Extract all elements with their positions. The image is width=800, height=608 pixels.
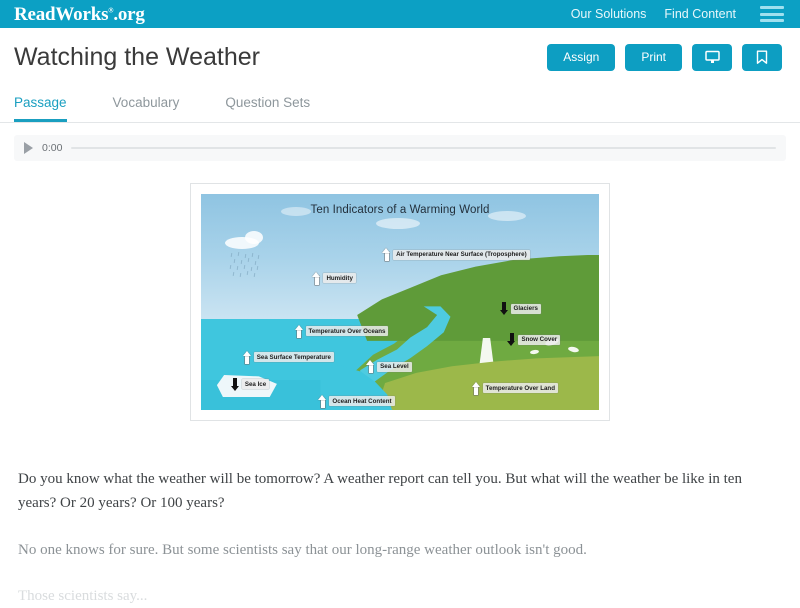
- site-logo[interactable]: ReadWorks®.org: [14, 5, 145, 24]
- arrow-up-icon: [472, 382, 481, 395]
- arrow-up-icon: [318, 395, 327, 408]
- tab-question-sets[interactable]: Question Sets: [225, 95, 310, 122]
- present-button[interactable]: [692, 44, 732, 71]
- print-button[interactable]: Print: [625, 44, 682, 71]
- monitor-icon: [705, 50, 720, 64]
- audio-time: 0:00: [42, 142, 62, 154]
- audio-player-region: 0:00: [0, 123, 800, 161]
- play-icon[interactable]: [24, 142, 33, 154]
- label-text: Sea Ice: [242, 379, 269, 389]
- cloud-icon-4: [281, 207, 311, 216]
- audio-progress-track[interactable]: [71, 147, 776, 149]
- label-text: Glaciers: [511, 304, 541, 314]
- label-text: Snow Cover: [518, 335, 560, 345]
- audio-player: 0:00: [14, 135, 786, 161]
- arrow-down-icon: [500, 302, 509, 315]
- logo-main-text: ReadWorks: [14, 4, 108, 25]
- bookmark-button[interactable]: [742, 44, 782, 71]
- label-text: Temperature Over Oceans: [306, 326, 389, 336]
- content-tabs: Passage Vocabulary Question Sets: [0, 86, 800, 123]
- hamburger-menu-icon[interactable]: [760, 6, 784, 22]
- arrow-up-icon: [295, 325, 304, 338]
- illustration-title: Ten Indicators of a Warming World: [201, 204, 599, 216]
- arrow-up-icon: [382, 248, 391, 261]
- passage-paragraph-2: No one knows for sure. But some scientis…: [18, 538, 780, 562]
- hamburger-bar-2: [760, 13, 784, 16]
- label-text: Temperature Over Land: [483, 383, 558, 393]
- label-text: Humidity: [323, 273, 355, 283]
- passage-figure: Ten Indicators of a Warming World: [190, 183, 610, 421]
- nav-find-content[interactable]: Find Content: [664, 7, 736, 21]
- logo-suffix-text: .org: [113, 4, 144, 25]
- assign-button[interactable]: Assign: [547, 44, 615, 71]
- label-humidity: Humidity: [312, 272, 355, 285]
- arrow-up-icon: [243, 351, 252, 364]
- label-air-temperature: Air Temperature Near Surface (Tropospher…: [382, 248, 530, 261]
- label-glaciers: Glaciers: [500, 302, 541, 315]
- cloud-icon-3: [488, 211, 526, 221]
- arrow-up-icon: [366, 360, 375, 373]
- warming-world-illustration: Ten Indicators of a Warming World: [201, 194, 599, 410]
- arrow-down-icon: [231, 378, 240, 391]
- label-text: Sea Surface Temperature: [254, 352, 334, 362]
- label-text: Air Temperature Near Surface (Tropospher…: [393, 250, 530, 260]
- nav-our-solutions[interactable]: Our Solutions: [571, 7, 647, 21]
- site-header: ReadWorks®.org Our Solutions Find Conten…: [0, 0, 800, 28]
- bookmark-icon: [756, 50, 768, 65]
- label-text: Sea Level: [377, 362, 412, 372]
- label-sea-ice: Sea Ice: [231, 378, 269, 391]
- title-bar: Watching the Weather Assign Print: [0, 28, 800, 86]
- label-temperature-over-land: Temperature Over Land: [472, 382, 558, 395]
- label-ocean-heat-content: Ocean Heat Content: [318, 395, 394, 408]
- label-sea-surface-temperature: Sea Surface Temperature: [243, 351, 334, 364]
- passage-paragraph-1: Do you know what the weather will be tom…: [18, 467, 780, 516]
- header-nav: Our Solutions Find Content: [571, 6, 784, 22]
- label-sea-level: Sea Level: [366, 360, 412, 373]
- label-temperature-over-oceans: Temperature Over Oceans: [295, 325, 389, 338]
- arrow-up-icon: [312, 272, 321, 285]
- arrow-down-icon: [507, 333, 516, 346]
- rain-cloud-top-icon: [245, 231, 263, 244]
- hamburger-bar-1: [760, 6, 784, 9]
- cloud-icon-2: [376, 218, 420, 229]
- label-text: Ocean Heat Content: [329, 396, 394, 406]
- action-buttons: Assign Print: [547, 44, 782, 71]
- tab-passage[interactable]: Passage: [14, 95, 67, 122]
- rain-drops-icon: [229, 252, 263, 280]
- land-hill-shape: [352, 255, 599, 341]
- figure-region: Ten Indicators of a Warming World: [0, 161, 800, 421]
- label-snow-cover: Snow Cover: [507, 333, 560, 346]
- page-title: Watching the Weather: [14, 43, 260, 72]
- tab-vocabulary[interactable]: Vocabulary: [113, 95, 180, 122]
- passage-text: Do you know what the weather will be tom…: [0, 421, 800, 608]
- hamburger-bar-3: [760, 19, 784, 22]
